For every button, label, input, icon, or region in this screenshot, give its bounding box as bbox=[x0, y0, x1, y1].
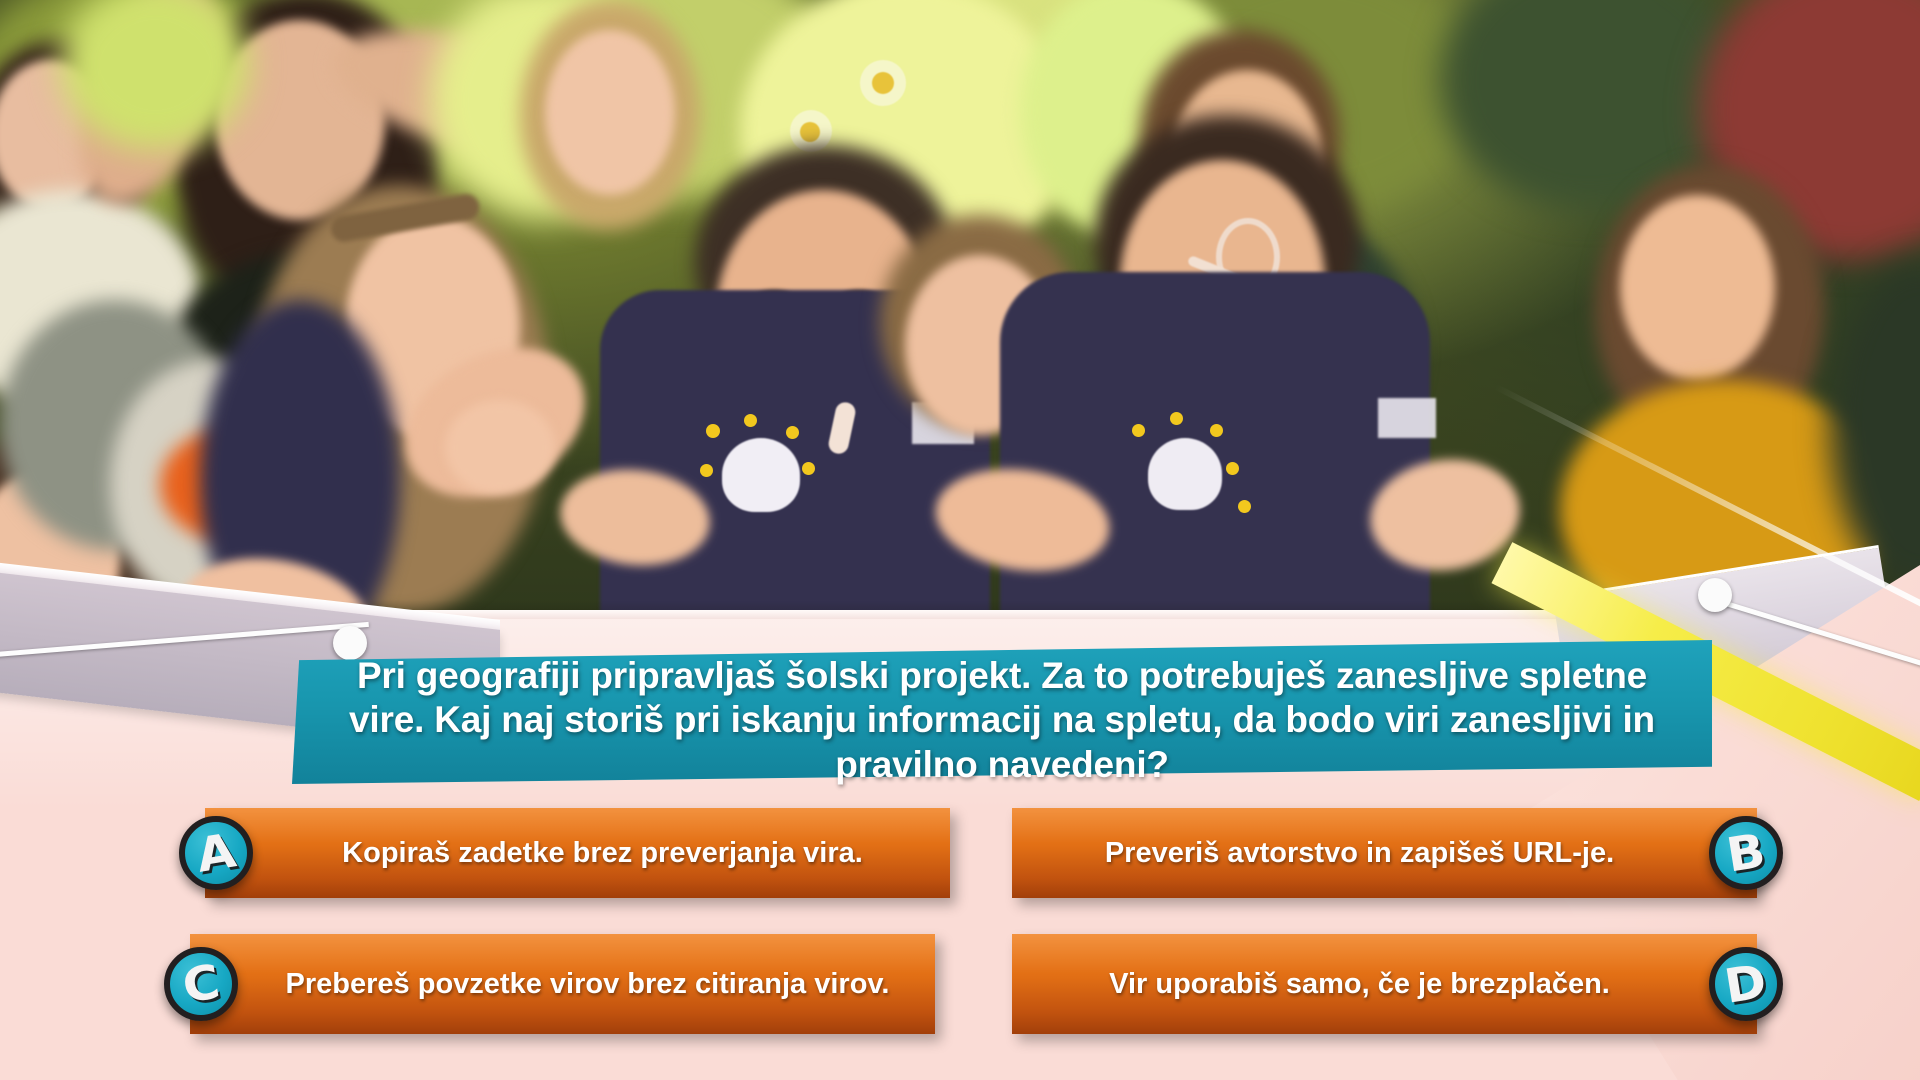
answer-text-a: Kopiraš zadetke brez preverjanja vira. bbox=[295, 808, 910, 898]
brain-logo bbox=[1148, 438, 1222, 510]
answer-letter-badge-a: A bbox=[179, 816, 253, 890]
answer-letter-d: D bbox=[1722, 958, 1770, 1011]
logo-dot bbox=[744, 414, 757, 427]
answer-option-a[interactable]: A Kopiraš zadetke brez preverjanja vira. bbox=[205, 808, 950, 898]
audience-face bbox=[1620, 195, 1775, 380]
answer-letter-a: A bbox=[193, 827, 238, 879]
brain-logo bbox=[722, 438, 800, 512]
audience-face bbox=[545, 30, 675, 195]
logo-dot bbox=[700, 464, 713, 477]
answer-option-b[interactable]: B Preveriš avtorstvo in zapišeš URL-je. bbox=[1012, 808, 1757, 898]
answer-option-c[interactable]: C Prebereš povzetke virov brez citiranja… bbox=[190, 934, 935, 1034]
question-banner: Pri geografiji pripravljaš šolski projek… bbox=[292, 640, 1712, 784]
answer-letter-c: C bbox=[179, 958, 222, 1010]
logo-dot bbox=[1238, 500, 1251, 513]
flower-center bbox=[872, 72, 894, 94]
answer-letter-b: B bbox=[1724, 827, 1769, 879]
quiz-show-screen: Pri geografiji pripravljaš šolski projek… bbox=[0, 0, 1920, 1080]
flower-center bbox=[800, 122, 820, 142]
contestant-hand bbox=[445, 400, 555, 495]
answer-letter-badge-c: C bbox=[164, 947, 238, 1021]
connector-node-right bbox=[1698, 578, 1732, 612]
logo-dot bbox=[1210, 424, 1223, 437]
logo-dot bbox=[1170, 412, 1183, 425]
logo-dot bbox=[706, 424, 720, 438]
answer-text-d: Vir uporabiš samo, če je brezplačen. bbox=[1052, 934, 1667, 1034]
contestant-shirt bbox=[1000, 272, 1430, 622]
answer-letter-badge-d: D bbox=[1709, 947, 1783, 1021]
logo-dot bbox=[1226, 462, 1239, 475]
logo-dot bbox=[1132, 424, 1145, 437]
answer-options: A Kopiraš zadetke brez preverjanja vira.… bbox=[0, 800, 1920, 1040]
logo-dot bbox=[786, 426, 799, 439]
answer-letter-badge-b: B bbox=[1709, 816, 1783, 890]
answer-option-d[interactable]: D Vir uporabiš samo, če je brezplačen. bbox=[1012, 934, 1757, 1034]
answer-text-b: Preveriš avtorstvo in zapišeš URL-je. bbox=[1052, 808, 1667, 898]
logo-dot bbox=[802, 462, 815, 475]
question-text: Pri geografiji pripravljaš šolski projek… bbox=[338, 654, 1666, 787]
rtv-slovenija-logo bbox=[1378, 398, 1436, 438]
answer-text-c: Prebereš povzetke virov brez citiranja v… bbox=[280, 934, 895, 1034]
